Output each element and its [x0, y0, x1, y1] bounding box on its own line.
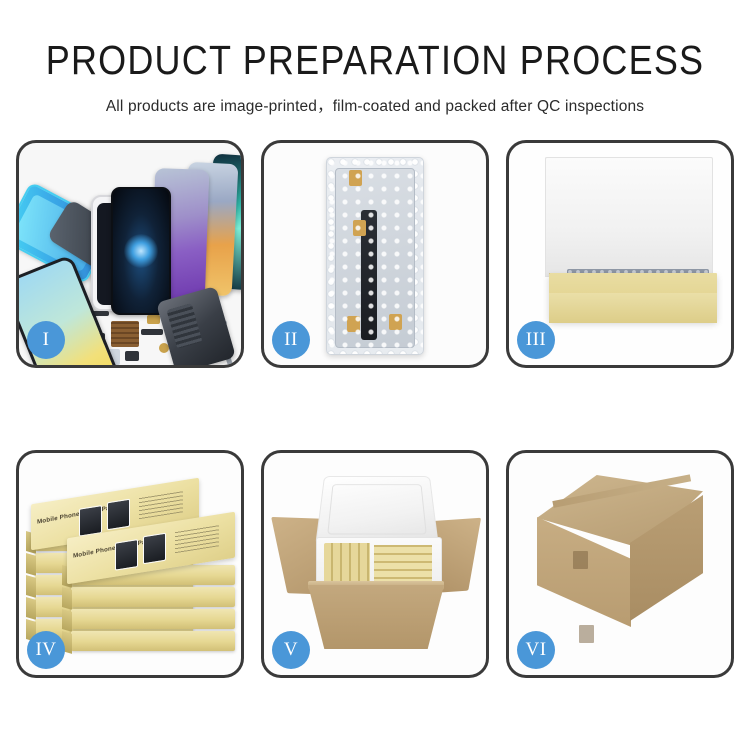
process-step-panel-1: I — [16, 140, 244, 368]
styrofoam-lid — [315, 476, 439, 545]
box-spec-lines — [175, 524, 219, 553]
process-step-panel-5: V — [261, 450, 489, 678]
yellow-box-bundle-right — [374, 545, 432, 585]
spare-part-bracket — [147, 315, 160, 324]
carton-tape-patch-lower — [579, 625, 594, 643]
process-step-panel-4: Mobile Phone Spare Parts Mobile Phone Sp… — [16, 450, 244, 678]
tape-strip-middle — [353, 220, 366, 236]
step-badge-4: IV — [27, 631, 65, 669]
box-product-photo — [143, 533, 166, 565]
cardboard-carton-body — [308, 585, 444, 649]
yellow-box-front-panel — [549, 293, 717, 323]
step-badge-1: I — [27, 321, 65, 359]
process-step-panel-2: II — [261, 140, 489, 368]
step-badge-5: V — [272, 631, 310, 669]
stacked-box — [71, 631, 235, 651]
box-product-photo — [107, 499, 130, 531]
process-steps-grid: I II III — [16, 140, 734, 678]
box-product-photo — [115, 539, 138, 571]
step-badge-6: VI — [517, 631, 555, 669]
packed-yellow-boxes — [324, 543, 432, 585]
box-spec-lines — [139, 490, 183, 519]
page-header: PRODUCT PREPARATION PROCESS All products… — [0, 0, 750, 116]
process-step-panel-3: III — [506, 140, 734, 368]
tape-strip-bottom-right — [389, 314, 402, 330]
spare-part-vibrator — [125, 351, 139, 361]
carton-tape-patch-upper — [573, 551, 588, 569]
tape-strip-top — [349, 170, 362, 186]
stacked-box — [71, 609, 235, 629]
bubble-wrap-bag — [326, 157, 424, 355]
box-product-photo — [79, 505, 102, 537]
spare-part-ribbon — [141, 329, 163, 335]
page-subtitle: All products are image-printed，film-coat… — [0, 94, 750, 116]
spare-part-chip-array — [111, 321, 139, 347]
phone-black-wallpaper — [111, 187, 171, 315]
step-badge-3: III — [517, 321, 555, 359]
tape-strip-bottom-left — [347, 316, 360, 332]
white-foam-lid — [545, 157, 713, 277]
step-badge-2: II — [272, 321, 310, 359]
page-title: PRODUCT PREPARATION PROCESS — [0, 38, 750, 82]
yellow-box-bundle-left — [324, 543, 370, 585]
process-step-panel-6: VI — [506, 450, 734, 678]
stacked-box — [71, 587, 235, 607]
